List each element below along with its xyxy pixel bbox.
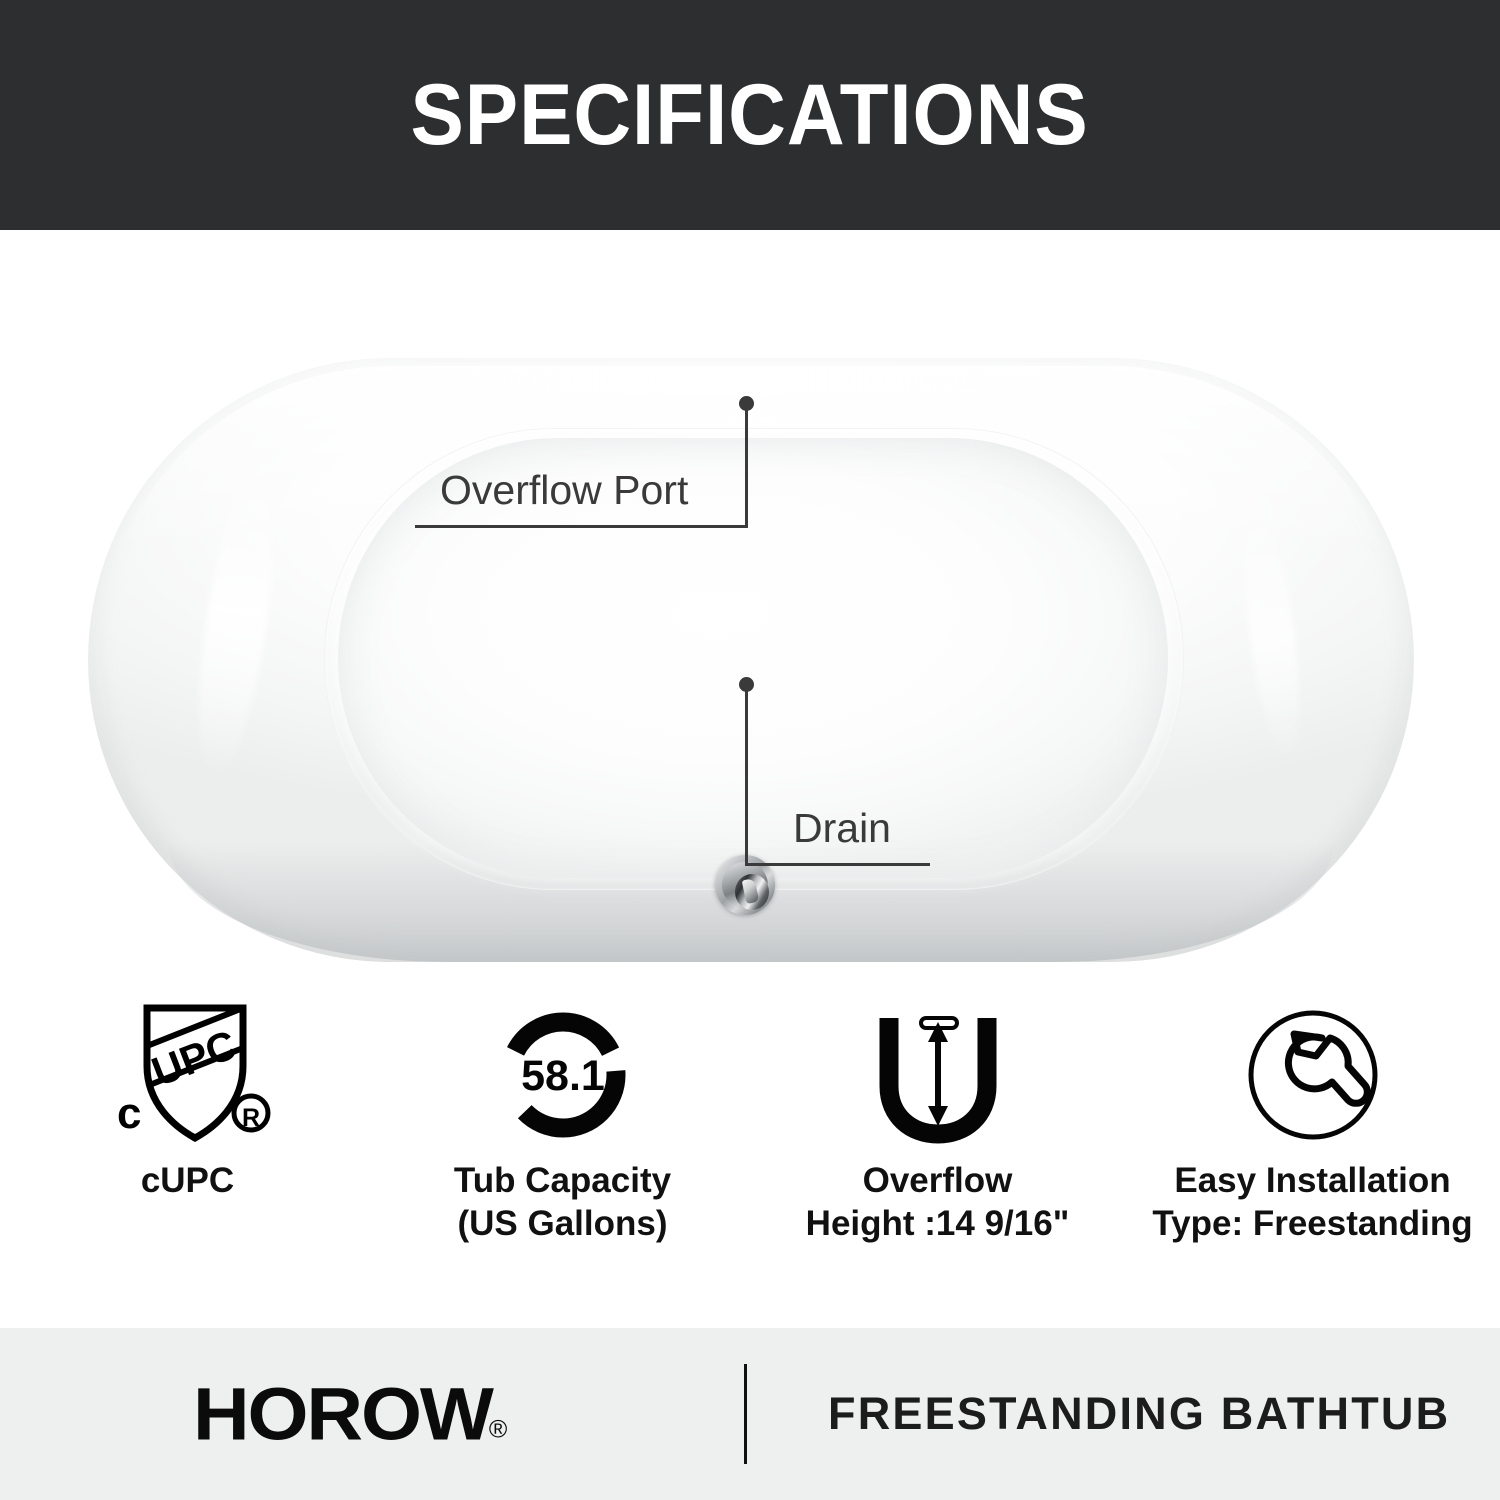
footer-bar: HOROW ® FREESTANDING BATHTUB xyxy=(0,1328,1500,1500)
capacity-gauge-icon: 58.1 xyxy=(488,1000,638,1150)
feature-cupc: UPC c R cUPC xyxy=(0,1000,375,1300)
drain-label: Drain xyxy=(793,808,891,849)
drain-core xyxy=(735,874,769,910)
cupc-shield-icon: UPC c R xyxy=(103,1000,273,1150)
overflow-port-leader-horizontal xyxy=(415,525,748,528)
overflow-port-leader-vertical xyxy=(745,403,748,528)
feature-capacity: 58.1 Tub Capacity (US Gallons) xyxy=(375,1000,750,1300)
page-title: SPECIFICATIONS xyxy=(411,72,1089,158)
features-row: UPC c R cUPC 58.1 Tub Capacity (US Gallo… xyxy=(0,1000,1500,1300)
svg-text:UPC: UPC xyxy=(145,1021,242,1095)
feature-installation-caption: Easy Installation Type: Freestanding xyxy=(1152,1160,1472,1245)
product-image-area: Overflow Port Drain xyxy=(0,230,1500,1000)
svg-text:c: c xyxy=(117,1089,141,1138)
svg-text:R: R xyxy=(241,1104,259,1132)
feature-cupc-caption: cUPC xyxy=(141,1160,234,1203)
overflow-height-icon xyxy=(863,1000,1013,1150)
drain-inner-ring xyxy=(722,862,768,908)
feature-overflow-height: Overflow Height :14 9/16" xyxy=(750,1000,1125,1300)
footer-tagline: FREESTANDING BATHTUB xyxy=(828,1388,1450,1440)
feature-capacity-caption: Tub Capacity (US Gallons) xyxy=(454,1160,671,1245)
brand-logo: HOROW ® xyxy=(193,1381,507,1446)
feature-overflow-height-caption: Overflow Height :14 9/16" xyxy=(806,1160,1070,1245)
wrench-circle-icon xyxy=(1238,1000,1388,1150)
feature-installation: Easy Installation Type: Freestanding xyxy=(1125,1000,1500,1300)
capacity-value: 58.1 xyxy=(521,1052,605,1100)
drain-leader-horizontal xyxy=(745,863,930,866)
drain-leader-vertical xyxy=(745,684,748,866)
overflow-port-label: Overflow Port xyxy=(440,470,688,511)
footer-divider xyxy=(744,1364,747,1464)
brand-logo-text: HOROW xyxy=(193,1381,492,1446)
header-bar: SPECIFICATIONS xyxy=(0,0,1500,230)
